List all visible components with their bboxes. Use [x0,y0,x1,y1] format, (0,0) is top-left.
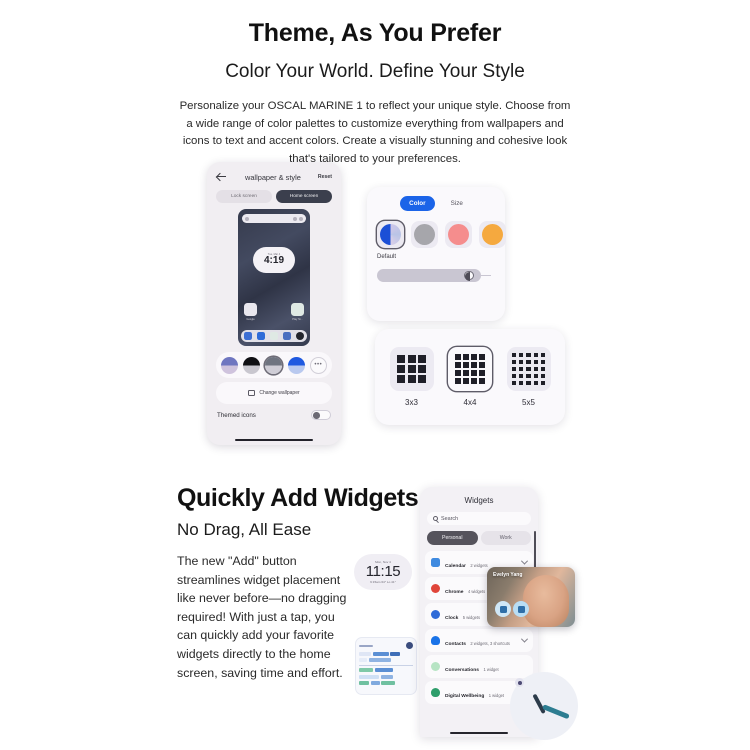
clock-widget-time: 11:15 [366,564,400,580]
swatch-blue[interactable] [288,357,305,374]
image-icon [248,390,255,396]
mic-icon [293,217,297,221]
grid-preview-3x3 [390,347,434,391]
list-item[interactable]: Conversations 1 widget [425,655,533,678]
swatch-fill [380,224,401,245]
themed-icons-row: Themed icons [217,410,331,420]
contrast-slider[interactable] [377,269,481,282]
maps-icon [270,332,278,340]
widget-count: 2 widgets, 3 shortcuts [470,641,510,646]
swatch-fill [414,224,435,245]
tab-lock-screen[interactable]: Lock screen [216,190,272,203]
widget-count: 5 widgets [463,615,480,620]
preview-search-bar [242,214,306,223]
grid-option-4x4[interactable]: 4x4 [448,347,492,407]
themed-icons-label: Themed icons [217,412,256,419]
theme-description: Personalize your OSCAL MARINE 1 to refle… [179,98,571,169]
page-subtitle: Color Your World. Define Your Style [0,60,750,85]
message-icon [518,606,525,613]
color-swatch-orange[interactable] [479,221,506,248]
grid-label: 3x3 [390,398,434,407]
default-color-label: Default [377,254,495,260]
widget-app-name: Calendar [445,564,466,569]
phone-app-bar: wallpaper & style Reset [207,162,341,183]
grid-size-card: 3x3 4x4 [375,329,565,425]
swatch-black-grey[interactable] [243,357,260,374]
preview-app-label: Google [244,318,257,321]
phone-nav-bar [235,439,313,441]
search-icon [433,516,438,521]
clock-widget-sub: 9:15am 64° Lo 41° [370,580,396,584]
change-wallpaper-button[interactable]: Change wallpaper [216,382,332,404]
lens-icon [299,217,303,221]
widgets-title: Quickly Add Widgets [177,484,418,513]
preview-app-google: Google [244,303,257,321]
widgets-section-header: Quickly Add Widgets No Drag, All Ease [177,484,418,540]
wallpaper-swatch-row: ••• [216,352,332,378]
contacts-icon [283,332,291,340]
floating-schedule-widget [355,637,417,695]
grid-dots [512,353,545,386]
chevron-down-icon[interactable] [521,558,528,565]
themed-icons-toggle[interactable] [311,410,331,420]
color-swatch-blue[interactable] [377,221,404,248]
page-root: Theme, As You Prefer Color Your World. D… [0,0,750,750]
google-folder-icon [244,303,257,316]
google-g-icon [245,217,249,221]
wallpaper-style-phone: wallpaper & style Reset Lock screen Home… [207,162,341,445]
color-swatch-row [377,221,495,248]
widgets-description: The new "Add" button streamlines widget … [177,552,353,682]
conversations-icon [431,662,440,671]
color-size-tabs: Color Size [377,196,495,211]
phone-icon [244,332,252,340]
widgets-panel-title: Widgets [420,487,538,512]
theme-section-header: Theme, As You Prefer Color Your World. D… [0,18,750,169]
widget-app-name: Chrome [445,590,463,595]
home-screen-preview[interactable]: Tue, Mar 4 4:19 Google Play St... [238,209,310,346]
widget-count: 4 widgets [468,589,485,594]
phone-icon [500,606,507,613]
screen-tabs: Lock screen Home screen [207,183,341,203]
chevron-down-icon[interactable] [521,636,528,643]
change-wallpaper-label: Change wallpaper [259,390,299,396]
swatch-fill [448,224,469,245]
camera-icon [296,332,304,340]
widget-app-name: Digital Wellbeing [445,694,484,699]
tab-size[interactable]: Size [442,196,472,211]
minute-hand [542,704,570,719]
search-placeholder: Search [441,516,458,522]
phone-nav-bar [450,732,508,734]
swatch-purple-blue[interactable] [221,357,238,374]
widgets-search-input[interactable]: Search [427,512,531,525]
clock-badge [515,678,524,687]
grid-label: 4x4 [448,398,492,407]
badge-dot-icon [518,681,522,685]
widget-app-name: Clock [445,616,458,621]
grid-preview-4x4 [448,347,492,391]
preview-clock-time: 4:19 [264,256,284,267]
reset-button[interactable]: Reset [318,174,332,180]
preview-app-label: Play St... [291,318,304,321]
grid-label: 5x5 [507,398,551,407]
video-call-widget[interactable]: Evelyn Yang [487,567,575,627]
play-store-icon [291,303,304,316]
swatch-more-button[interactable]: ••• [310,357,327,374]
message-button[interactable] [513,601,529,617]
list-item[interactable]: Contacts 2 widgets, 3 shortcuts [425,629,533,652]
grid-option-5x5[interactable]: 5x5 [507,347,551,407]
avatar [406,642,413,649]
chrome-icon [431,584,440,593]
grid-option-3x3[interactable]: 3x3 [390,347,434,407]
tab-work[interactable]: Work [481,531,532,545]
tab-home-screen[interactable]: Home screen [276,190,332,203]
color-settings-card: Color Size Default [367,187,505,321]
tab-color[interactable]: Color [400,196,434,211]
swatch-grey[interactable] [265,357,282,374]
swatch-fill [482,224,503,245]
portrait-face [523,575,569,627]
back-arrow-icon[interactable] [216,171,228,183]
clock-icon [431,610,440,619]
grid-dots [397,355,425,383]
widgets-subtitle: No Drag, All Ease [177,520,418,540]
widget-count: 1 widget [489,693,504,698]
widget-count: 2 widgets [470,563,487,568]
toggle-knob [313,412,320,419]
preview-app-play-store: Play St... [291,303,304,321]
call-button[interactable] [495,601,511,617]
floating-clock-widget: Mon, Nov 4 11:15 9:15am 64° Lo 41° [354,554,412,590]
slider-knob[interactable] [464,271,474,281]
preview-dock [241,330,307,342]
calendar-icon [431,558,440,567]
grid-preview-5x5 [507,347,551,391]
color-swatch-grey[interactable] [411,221,438,248]
widget-app-name: Conversations [445,668,479,673]
preview-clock-widget: Tue, Mar 4 4:19 [253,247,295,273]
wallpaper-style-title: wallpaper & style [228,173,318,182]
grid-dots [455,354,486,385]
digital-wellbeing-icon [431,688,440,697]
messages-icon [257,332,265,340]
widgets-profile-tabs: Personal Work [427,531,531,545]
schedule-header [359,642,413,649]
page-title: Theme, As You Prefer [0,18,750,49]
contacts-icon [431,636,440,645]
caller-name: Evelyn Yang [493,572,522,578]
widget-app-name: Contacts [445,642,466,647]
widget-count: 1 widget [483,667,498,672]
tab-personal[interactable]: Personal [427,531,478,545]
color-swatch-salmon[interactable] [445,221,472,248]
